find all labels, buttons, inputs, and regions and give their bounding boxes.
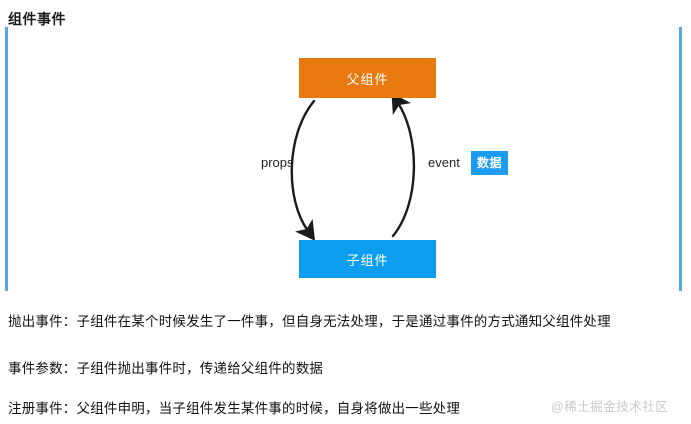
watermark: @稀土掘金技术社区 (551, 396, 668, 415)
props-arrow (292, 101, 314, 231)
diagram-panel: 父组件 子组件 props event 数据 (5, 27, 682, 291)
event-edge-label: event (428, 155, 460, 170)
props-edge-label: props (261, 155, 294, 170)
diagram-page: 组件事件 父组件 子组件 props event 数据 抛 (0, 0, 691, 424)
page-title: 组件事件 (8, 9, 66, 29)
event-arrow (393, 103, 414, 236)
description-line-register-event: 注册事件：父组件申明，当子组件发生某件事的时候，自身将做出一些处理 (8, 397, 460, 417)
description-line-event-params: 事件参数：子组件抛出事件时，传递给父组件的数据 (8, 357, 323, 377)
data-badge: 数据 (471, 151, 508, 175)
parent-component-label: 父组件 (346, 69, 388, 88)
description-line-throw-event: 抛出事件：子组件在某个时候发生了一件事，但自身无法处理，于是通过事件的方式通知父… (8, 310, 611, 330)
child-component-label: 子组件 (346, 250, 388, 269)
parent-component-node: 父组件 (299, 58, 436, 98)
child-component-node: 子组件 (299, 240, 436, 278)
